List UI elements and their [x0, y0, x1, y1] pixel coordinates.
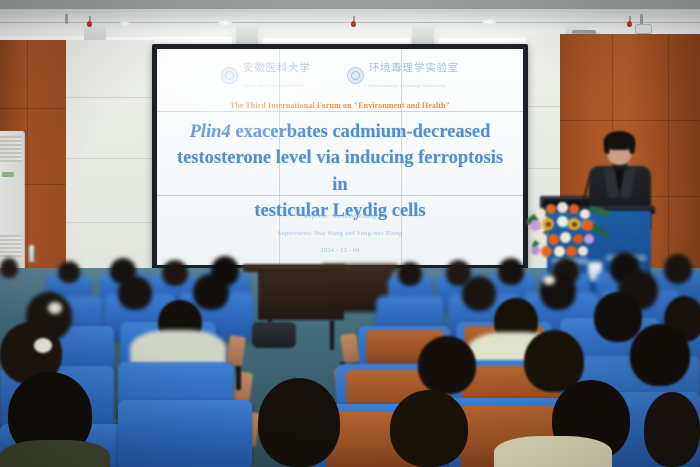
- wood-seam: [668, 34, 669, 279]
- audience-shoulders: [494, 436, 612, 467]
- water-bottle: [29, 245, 34, 262]
- sprinkler-icon: [627, 21, 632, 27]
- university-name-cn: 安徽医科大学: [243, 62, 311, 74]
- screen-seam: [157, 111, 523, 112]
- sprinkler-icon: [87, 21, 92, 27]
- seat-leg: [236, 366, 241, 390]
- ac-vent-grille-icon: [0, 136, 22, 162]
- projector-mount: [65, 14, 68, 24]
- side-desk-right-top: [322, 264, 398, 271]
- audience-head: [162, 260, 188, 286]
- flower-bloom: [566, 246, 577, 257]
- wood-seam: [0, 108, 66, 109]
- screen-seam: [279, 49, 280, 265]
- flower-bloom: [554, 246, 565, 257]
- university-logo: 安徽医科大学 ANHUI MEDICAL UNIVERSITY: [221, 59, 311, 92]
- ac-vent-grille-icon: [0, 235, 22, 257]
- desk-leg: [330, 320, 334, 350]
- projection-screen-frame: 安徽医科大学 ANHUI MEDICAL UNIVERSITY 环境毒理学实验室…: [152, 44, 528, 270]
- foliage: [589, 204, 612, 219]
- title-line-1-rest: exacerbates cadmium-decreased: [231, 122, 491, 142]
- flower-bloom: [531, 246, 540, 255]
- flower-bloom: [573, 234, 583, 244]
- wood-seam: [27, 40, 28, 270]
- conference-photo: 安徽医科大学 ANHUI MEDICAL UNIVERSITY 环境毒理学实验室…: [0, 0, 700, 467]
- panel-seam: [66, 222, 154, 223]
- hair-clip: [543, 275, 555, 285]
- gene-name-italic: Plin4: [190, 122, 231, 142]
- laboratory-name-cn: 环境毒理学实验室: [369, 62, 459, 74]
- ceiling-downlight-icon: [218, 20, 232, 26]
- speaker-hair-side: [604, 140, 610, 154]
- presentation-date: 2024 - 12 - 04: [157, 243, 523, 260]
- audience-head: [0, 258, 18, 278]
- projection-screen: 安徽医科大学 ANHUI MEDICAL UNIVERSITY 环境毒理学实验室…: [157, 49, 523, 265]
- audience-head: [644, 392, 700, 467]
- reporter-line: Reporter: Xu-dong Zhang: [157, 209, 523, 226]
- flower-bloom: [584, 234, 594, 244]
- seat[interactable]: [118, 400, 252, 467]
- hair-tie: [34, 338, 52, 353]
- flower-bloom: [530, 220, 541, 231]
- audience-head: [258, 378, 340, 467]
- flower-bloom: [582, 220, 593, 231]
- audience-head: [118, 276, 152, 310]
- audience-head: [462, 276, 496, 311]
- screen-seam: [401, 49, 402, 265]
- flower-bloom: [535, 232, 546, 243]
- slide-logo-row: 安徽医科大学 ANHUI MEDICAL UNIVERSITY 环境毒理学实验室…: [157, 59, 523, 92]
- ceiling-shadow-strip: [0, 0, 700, 9]
- panel-seam: [66, 97, 154, 98]
- panel-seam: [66, 158, 154, 159]
- flower-bloom: [548, 234, 559, 245]
- screen-seam: [157, 195, 523, 196]
- audience-head: [630, 324, 690, 386]
- flower-arrangement: [527, 196, 611, 268]
- flower-bloom: [541, 246, 552, 257]
- wood-seam: [560, 120, 700, 121]
- audience-shoulders: [0, 440, 110, 467]
- ceiling-band: [0, 10, 700, 23]
- audience-head: [664, 254, 692, 284]
- title-line-2: testosterone level via inducing ferropto…: [177, 148, 503, 194]
- speaker-hair-side: [629, 140, 635, 154]
- audience-head: [390, 390, 468, 467]
- slide-credits: Reporter: Xu-dong Zhang Supervisors: Hua…: [157, 209, 523, 259]
- audience-head: [193, 274, 229, 310]
- laboratory-logo: 环境毒理学实验室 Environmental Toxicology Labora…: [347, 59, 459, 92]
- audience-head: [594, 292, 642, 342]
- laboratory-name-en: Environmental Toxicology Laboratory: [369, 84, 445, 88]
- university-seal-icon: [221, 67, 238, 84]
- audience-head: [418, 336, 476, 394]
- flower-bloom: [578, 246, 588, 256]
- flower-bloom: [535, 208, 546, 219]
- hair-tie: [48, 302, 62, 314]
- ceiling-downlight-icon: [482, 19, 496, 25]
- backpack: [252, 322, 296, 348]
- flower-bloom: [580, 209, 590, 219]
- audience-head: [58, 261, 80, 283]
- forum-subtitle: The Third International Forum on "Enviro…: [157, 101, 523, 110]
- sunflower-center: [572, 222, 577, 227]
- ac-display-icon: [2, 172, 14, 177]
- laboratory-seal-icon: [347, 67, 364, 84]
- flower-bloom: [560, 232, 571, 243]
- ceiling-downlight-icon: [120, 21, 130, 27]
- audience-head: [398, 262, 422, 286]
- flower-bloom: [569, 204, 579, 214]
- audience-head: [498, 258, 524, 285]
- flower-bloom: [557, 202, 568, 213]
- sprinkler-icon: [351, 21, 356, 27]
- university-name-en: ANHUI MEDICAL UNIVERSITY: [243, 84, 306, 88]
- sunflower-center: [546, 222, 551, 227]
- projector-housing: [635, 24, 652, 34]
- supervisors-line: Supervisors: Hua Wang and Yong-wei Xiong: [157, 226, 523, 243]
- flower-bloom: [557, 216, 568, 227]
- flower-bloom: [546, 204, 556, 214]
